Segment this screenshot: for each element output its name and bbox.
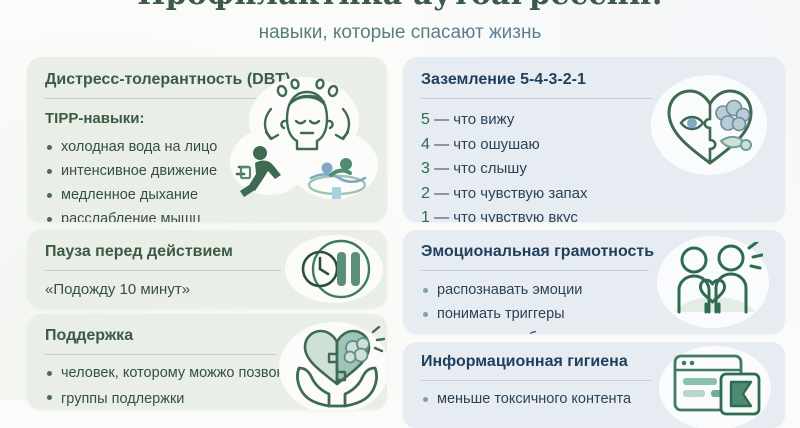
header: Профилактика аутоагрессии: навыки, котор… <box>0 0 800 46</box>
page-subtitle: навыки, которые спасают жизнь <box>0 20 800 46</box>
step-text: — что ошушаю <box>434 136 540 153</box>
step-text: — что вижу <box>434 111 514 128</box>
card-information-hygiene[interactable]: Информационная гигиена меньше токсичного… <box>403 342 785 428</box>
step-text: — что слышу <box>434 160 527 177</box>
step-number: 1 <box>421 209 430 222</box>
card-distress-tolerance[interactable]: Дистресс-толерантность (DBT) TIPP-навыки… <box>27 57 387 222</box>
heading-divider <box>421 380 651 381</box>
two-people-heart-icon <box>667 242 763 322</box>
heading-divider <box>45 354 277 355</box>
card-pause-before-action[interactable]: Пауза перед действием «Подожду 10 минут» <box>27 230 387 308</box>
card-emotional-literacy[interactable]: Эмоциональная грамотность распознавать э… <box>403 230 785 334</box>
list-item: расслабление мышц <box>45 207 373 222</box>
step-text: — что чувствую запах <box>434 185 587 202</box>
step-text: — что чувствую вкус <box>434 209 578 222</box>
heart-brain-eye-icon <box>661 83 759 169</box>
stressed-face-run-swim-icon <box>227 75 387 205</box>
hands-holding-heart-puzzle-icon <box>289 326 385 410</box>
card-support[interactable]: Поддержка человек, которому можжо позвон… <box>27 314 387 410</box>
step-number: 2 <box>421 185 430 202</box>
heading-divider <box>45 270 281 271</box>
card-grounding[interactable]: Заземление 5-4-3-2-1 5 — что вижу 4 — чт… <box>403 57 785 222</box>
step-number: 4 <box>421 136 430 153</box>
heading-divider <box>421 98 653 99</box>
step-number: 5 <box>421 111 430 128</box>
clock-pause-icon <box>293 238 377 300</box>
page-title: Профилактика аутоагрессии: <box>0 0 800 12</box>
browser-window-flag-icon <box>669 350 765 422</box>
list-item: 2 — что чувствую запах <box>421 182 771 207</box>
heading-divider <box>421 270 649 271</box>
list-item: 1 — что чувствую вкус <box>421 206 771 222</box>
step-number: 3 <box>421 160 430 177</box>
infographic-page: Профилактика аутоагрессии: навыки, котор… <box>0 0 800 400</box>
